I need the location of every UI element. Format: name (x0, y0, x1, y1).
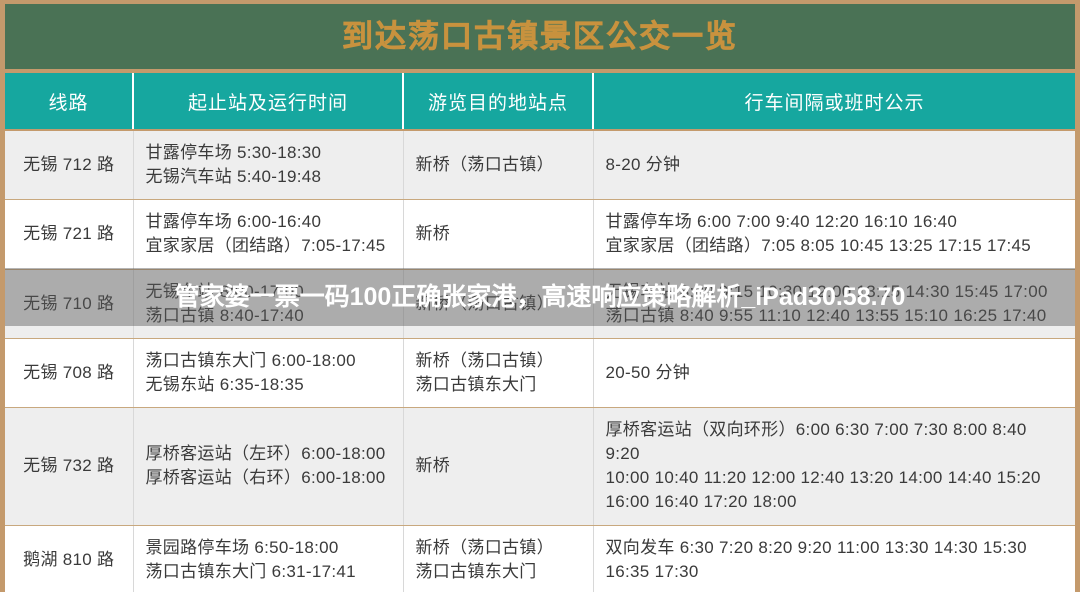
column-header-destinations: 游览目的地站点 (403, 73, 593, 130)
destination-line: 荡口古镇东大门 (416, 560, 581, 584)
cell-terminals: 无锡车站 8:00-17:00 荡口古镇 8:40-17:40 (133, 269, 403, 338)
column-header-route: 线路 (5, 73, 133, 130)
cell-route: 无锡 708 路 (5, 338, 133, 407)
table-row: 无锡 732 路 厚桥客运站（左环）6:00-18:00 厚桥客运站（右环）6:… (5, 408, 1075, 526)
terminal-line: 荡口古镇 8:40-17:40 (146, 304, 391, 328)
cell-frequency: 甘露停车场 6:00 7:00 9:40 12:20 16:10 16:40 宜… (593, 200, 1075, 269)
destination-line: 新桥 (416, 222, 581, 246)
table-row: 无锡 708 路 荡口古镇东大门 6:00-18:00 无锡东站 6:35-18… (5, 338, 1075, 407)
destination-line: 新桥（荡口古镇） (416, 292, 581, 316)
destination-line: 新桥 (416, 454, 581, 478)
cell-destinations: 新桥（荡口古镇） 荡口古镇东大门 (403, 525, 593, 592)
poster-title-banner: 到达荡口古镇景区公交一览 (5, 0, 1075, 73)
table-row: 无锡 721 路 甘露停车场 6:00-16:40 宜家家居（团结路）7:05-… (5, 200, 1075, 269)
destination-line: 新桥（荡口古镇） (416, 349, 581, 373)
cell-destinations: 新桥（荡口古镇） (403, 269, 593, 338)
table-row: 鹅湖 810 路 景园路停车场 6:50-18:00 荡口古镇东大门 6:31-… (5, 525, 1075, 592)
table-row: 无锡 712 路 甘露停车场 5:30-18:30 无锡汽车站 5:40-19:… (5, 130, 1075, 200)
cell-route: 鹅湖 810 路 (5, 525, 133, 592)
frequency-line: 宜家家居（团结路）7:05 8:05 10:45 13:25 17:15 17:… (606, 234, 1064, 258)
cell-route: 无锡 712 路 (5, 130, 133, 200)
cell-destinations: 新桥（荡口古镇） (403, 130, 593, 200)
column-header-terminals: 起止站及运行时间 (133, 73, 403, 130)
frequency-line: 厚桥客运站（双向环形）6:00 6:30 7:00 7:30 8:00 8:40… (606, 418, 1064, 466)
cell-terminals: 荡口古镇东大门 6:00-18:00 无锡东站 6:35-18:35 (133, 338, 403, 407)
frequency-line: 16:35 17:30 (606, 560, 1064, 584)
cell-frequency: 双向发车 6:30 7:20 8:20 9:20 11:00 13:30 14:… (593, 525, 1075, 592)
table-header: 线路 起止站及运行时间 游览目的地站点 行车间隔或班时公示 (5, 73, 1075, 130)
terminal-line: 景园路停车场 6:50-18:00 (146, 536, 391, 560)
frequency-line: 甘露停车场 6:00 7:00 9:40 12:20 16:10 16:40 (606, 210, 1064, 234)
terminal-line: 宜家家居（团结路）7:05-17:45 (146, 234, 391, 258)
terminal-line: 甘露停车场 5:30-18:30 (146, 141, 391, 165)
destination-line: 新桥（荡口古镇） (416, 153, 581, 177)
destination-line: 荡口古镇东大门 (416, 373, 581, 397)
cell-destinations: 新桥（荡口古镇） 荡口古镇东大门 (403, 338, 593, 407)
frequency-line: 8-20 分钟 (606, 153, 1064, 177)
destination-line: 新桥（荡口古镇） (416, 536, 581, 560)
frequency-line: 无锡车站 8:00 9:15 10:30 12:00 13:15 14:30 1… (606, 280, 1064, 304)
table-row: 无锡 710 路 无锡车站 8:00-17:00 荡口古镇 8:40-17:40… (5, 269, 1075, 338)
terminal-line: 厚桥客运站（右环）6:00-18:00 (146, 466, 391, 490)
cell-terminals: 厚桥客运站（左环）6:00-18:00 厚桥客运站（右环）6:00-18:00 (133, 408, 403, 526)
cell-terminals: 景园路停车场 6:50-18:00 荡口古镇东大门 6:31-17:41 (133, 525, 403, 592)
frequency-line: 荡口古镇 8:40 9:55 11:10 12:40 13:55 15:10 1… (606, 304, 1064, 328)
cell-frequency: 无锡车站 8:00 9:15 10:30 12:00 13:15 14:30 1… (593, 269, 1075, 338)
frequency-line: 10:00 10:40 11:20 12:00 12:40 13:20 14:0… (606, 466, 1064, 490)
table-header-row: 线路 起止站及运行时间 游览目的地站点 行车间隔或班时公示 (5, 73, 1075, 130)
bus-schedule-poster: 到达荡口古镇景区公交一览 线路 起止站及运行时间 游览目的地站点 行车间隔或班时… (0, 0, 1080, 592)
cell-destinations: 新桥 (403, 408, 593, 526)
frequency-line: 双向发车 6:30 7:20 8:20 9:20 11:00 13:30 14:… (606, 536, 1064, 560)
bus-schedule-table: 线路 起止站及运行时间 游览目的地站点 行车间隔或班时公示 无锡 712 路 甘… (5, 73, 1075, 592)
terminal-line: 荡口古镇东大门 6:31-17:41 (146, 560, 391, 584)
table-body: 无锡 712 路 甘露停车场 5:30-18:30 无锡汽车站 5:40-19:… (5, 130, 1075, 592)
frequency-line: 20-50 分钟 (606, 361, 1064, 385)
cell-destinations: 新桥 (403, 200, 593, 269)
cell-route: 无锡 710 路 (5, 269, 133, 338)
terminal-line: 甘露停车场 6:00-16:40 (146, 210, 391, 234)
cell-frequency: 厚桥客运站（双向环形）6:00 6:30 7:00 7:30 8:00 8:40… (593, 408, 1075, 526)
cell-frequency: 8-20 分钟 (593, 130, 1075, 200)
cell-terminals: 甘露停车场 5:30-18:30 无锡汽车站 5:40-19:48 (133, 130, 403, 200)
terminal-line: 无锡东站 6:35-18:35 (146, 373, 391, 397)
cell-terminals: 甘露停车场 6:00-16:40 宜家家居（团结路）7:05-17:45 (133, 200, 403, 269)
terminal-line: 无锡车站 8:00-17:00 (146, 280, 391, 304)
page-title: 到达荡口古镇景区公交一览 (342, 21, 738, 52)
terminal-line: 荡口古镇东大门 6:00-18:00 (146, 349, 391, 373)
terminal-line: 厚桥客运站（左环）6:00-18:00 (146, 442, 391, 466)
cell-route: 无锡 721 路 (5, 200, 133, 269)
column-header-frequency: 行车间隔或班时公示 (593, 73, 1075, 130)
cell-route: 无锡 732 路 (5, 408, 133, 526)
frequency-line: 16:00 16:40 17:20 18:00 (606, 490, 1064, 514)
terminal-line: 无锡汽车站 5:40-19:48 (146, 165, 391, 189)
cell-frequency: 20-50 分钟 (593, 338, 1075, 407)
